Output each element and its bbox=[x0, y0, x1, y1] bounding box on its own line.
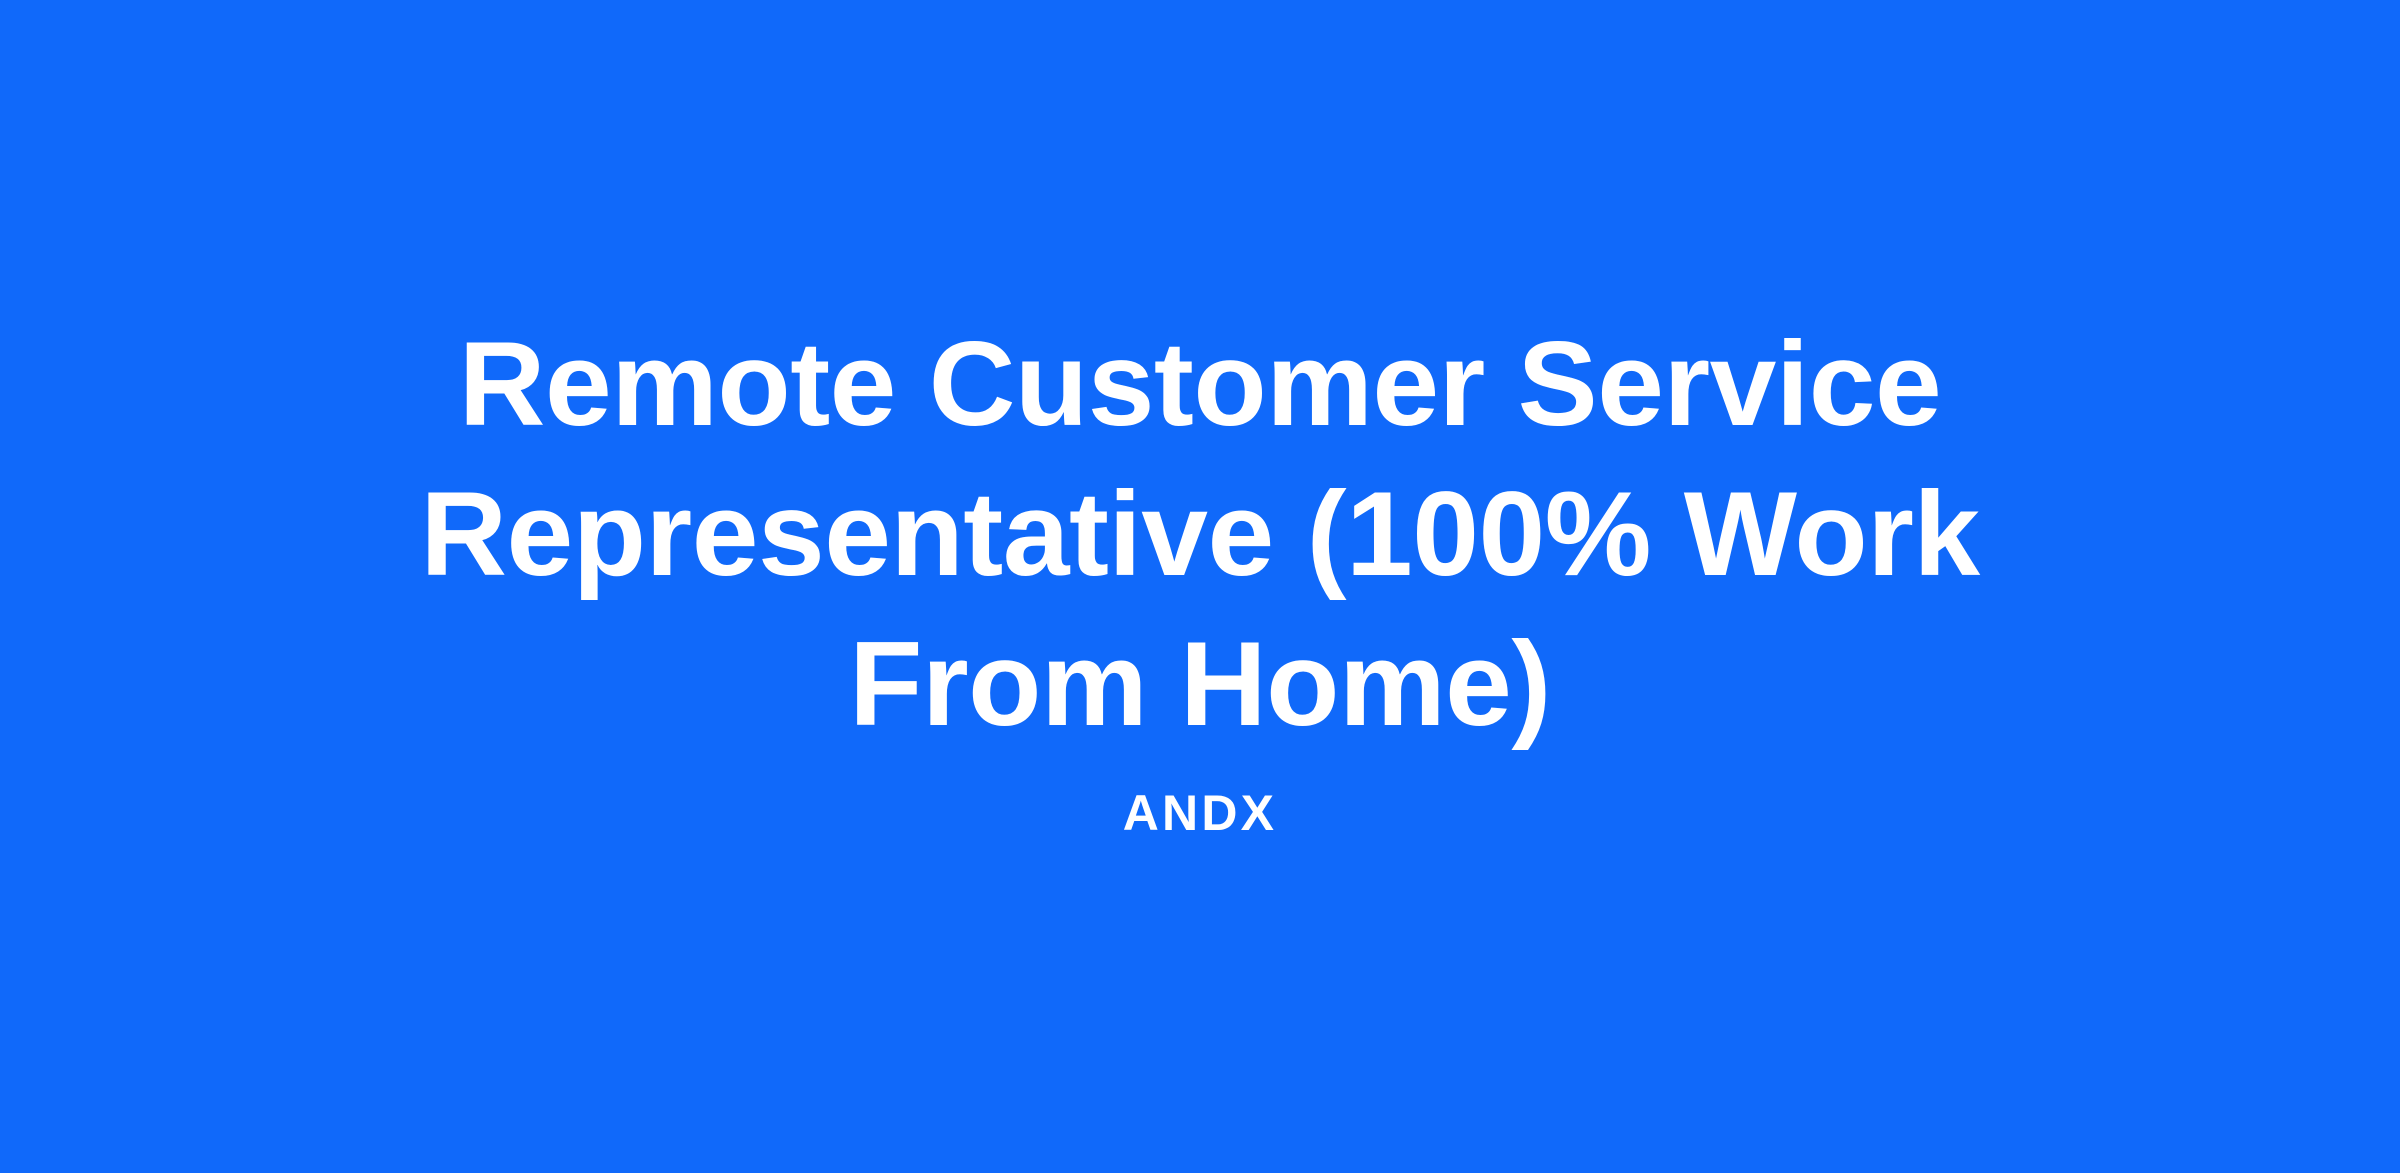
job-posting-card: Remote Customer Service Representative (… bbox=[0, 0, 2400, 1173]
company-name: ANDX bbox=[1123, 785, 1277, 841]
job-title: Remote Customer Service Representative (… bbox=[390, 309, 2010, 759]
card-content: Remote Customer Service Representative (… bbox=[380, 309, 2020, 841]
